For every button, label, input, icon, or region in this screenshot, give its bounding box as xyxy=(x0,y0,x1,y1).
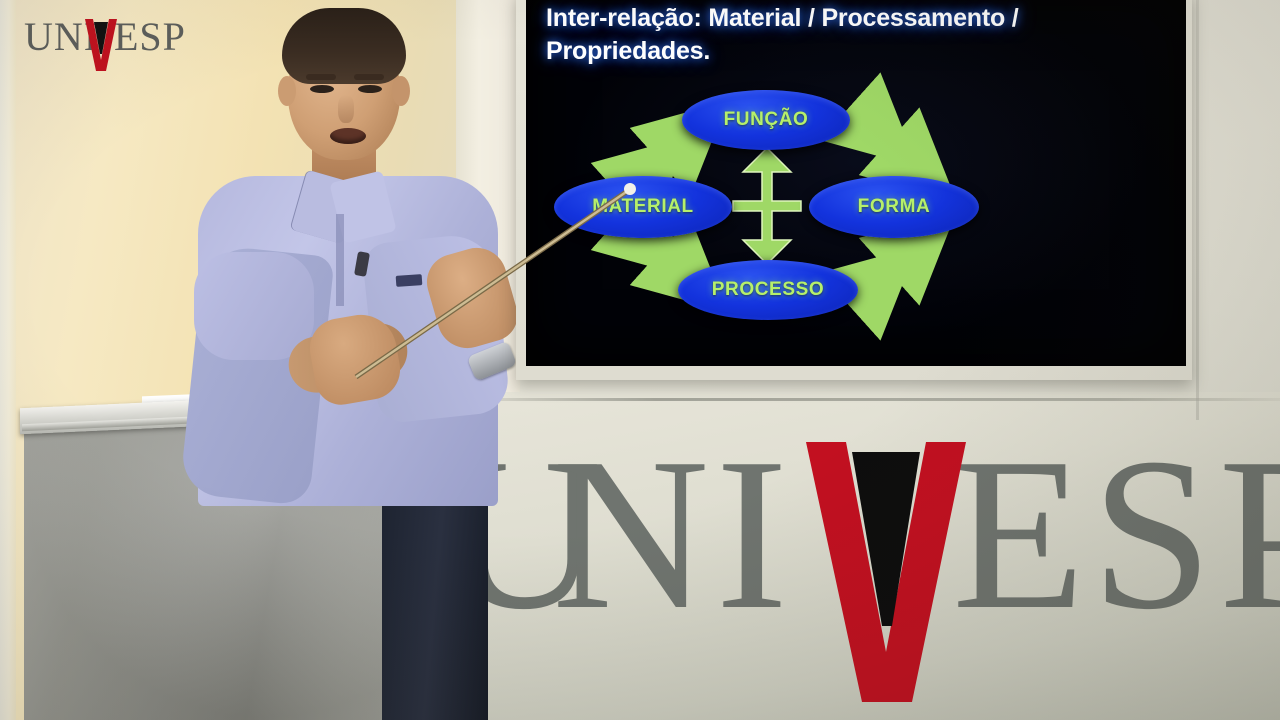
corner-logo-univesp: UNI ESP xyxy=(24,10,174,64)
pointer-stick xyxy=(0,0,1280,720)
corner-logo-esp: ESP xyxy=(114,10,186,64)
video-frame: U NI ESP xyxy=(0,0,1280,720)
corner-logo-v-icon xyxy=(84,18,118,72)
